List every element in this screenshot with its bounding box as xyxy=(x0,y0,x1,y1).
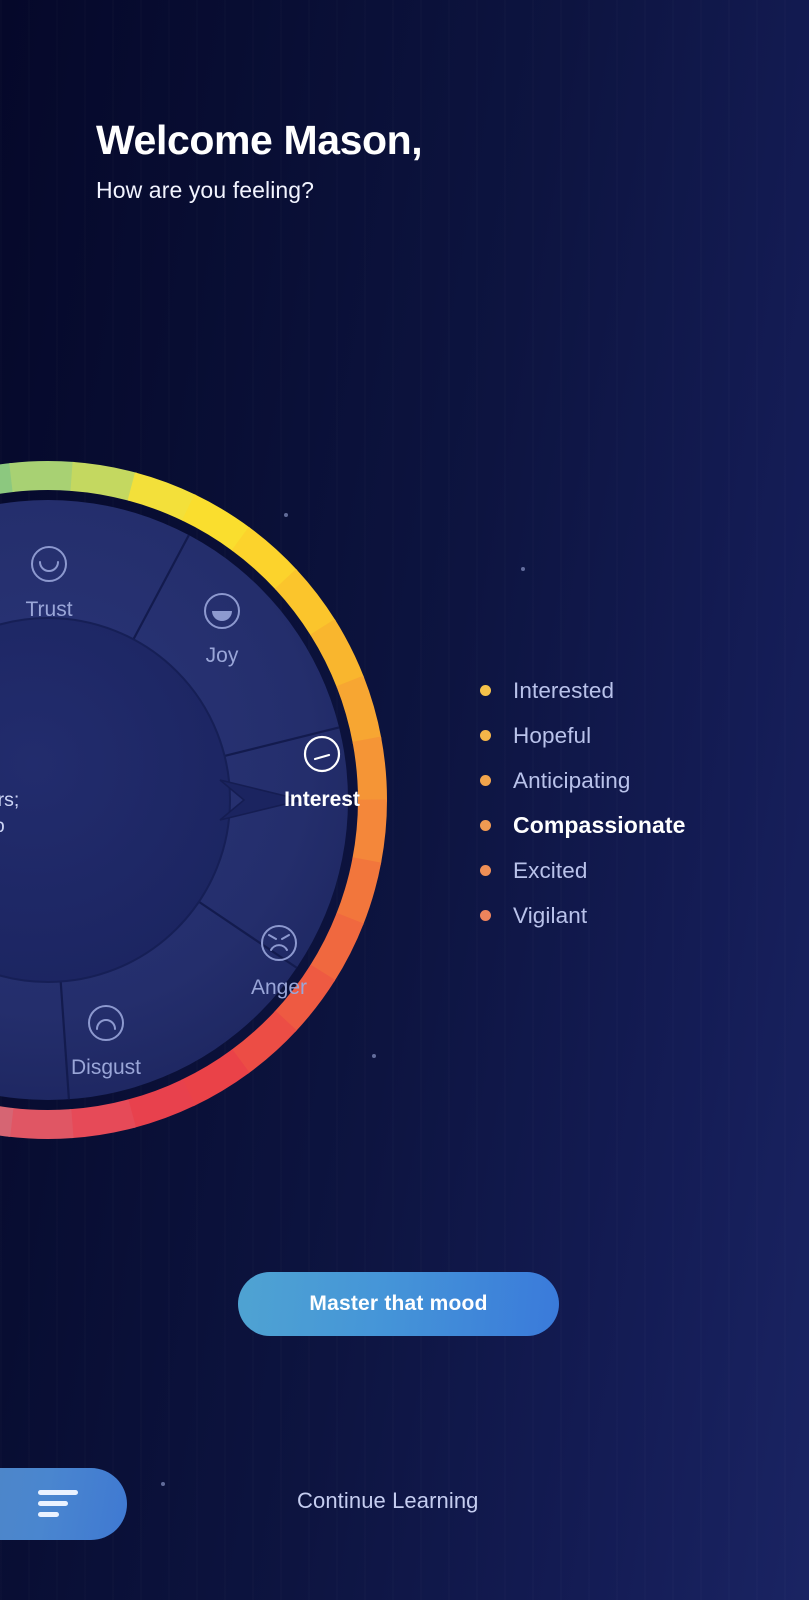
app-screen: Welcome Mason, How are you feeling? xyxy=(0,0,809,1600)
emotion-list[interactable]: InterestedHopefulAnticipatingCompassiona… xyxy=(480,668,686,938)
emotion-bullet-dot xyxy=(480,865,491,876)
ring-segment[interactable] xyxy=(69,1099,136,1138)
emotion-bullet-dot xyxy=(480,820,491,831)
ring-segment[interactable] xyxy=(336,676,381,744)
wheel-segment-label: Disgust xyxy=(71,1056,141,1079)
emotion-label: Vigilant xyxy=(513,903,587,929)
emotion-label: Interested xyxy=(513,678,614,704)
star-dot xyxy=(521,567,525,571)
emotion-list-item[interactable]: Interested xyxy=(480,668,686,713)
emotion-bullet-dot xyxy=(480,730,491,741)
emotion-label: Compassionate xyxy=(513,812,686,839)
wheel-segment-label: Interest xyxy=(284,788,360,811)
ring-segment[interactable] xyxy=(336,857,381,925)
wheel-segment-label: Trust xyxy=(25,598,72,621)
emotion-list-item[interactable]: Excited xyxy=(480,848,686,893)
ring-segment[interactable] xyxy=(9,461,74,492)
emotion-label: Hopeful xyxy=(513,723,591,749)
tooltip-line-2: concern for others; xyxy=(0,789,19,811)
emotion-label: Anticipating xyxy=(513,768,631,794)
page-subtitle: How are you feeling? xyxy=(96,177,422,204)
ring-segment[interactable] xyxy=(8,1108,73,1139)
emotion-wheel[interactable]: Empathy and concern for others; a desire… xyxy=(0,440,408,1160)
star-dot xyxy=(161,1482,165,1486)
emotion-bullet-dot xyxy=(480,910,491,921)
wheel-segment-label: Joy xyxy=(206,644,239,667)
emotion-list-item[interactable]: Anticipating xyxy=(480,758,686,803)
page-header: Welcome Mason, How are you feeling? xyxy=(96,118,422,204)
emotion-list-item[interactable]: Compassionate xyxy=(480,803,686,848)
page-title: Welcome Mason, xyxy=(96,118,422,163)
hamburger-menu-icon xyxy=(38,1490,78,1523)
wheel-segment-label: Anger xyxy=(251,976,307,999)
emotion-bullet-dot xyxy=(480,775,491,786)
menu-button[interactable] xyxy=(0,1468,127,1540)
emotion-label: Excited xyxy=(513,858,587,884)
emotion-list-item[interactable]: Vigilant xyxy=(480,893,686,938)
emotion-list-item[interactable]: Hopeful xyxy=(480,713,686,758)
ring-segment[interactable] xyxy=(70,462,137,501)
emotion-bullet-dot xyxy=(480,685,491,696)
master-that-mood-button[interactable]: Master that mood xyxy=(238,1272,559,1336)
tooltip-line-3: a desire to help xyxy=(0,815,5,837)
continue-learning-button[interactable]: Continue Learning xyxy=(297,1488,479,1514)
emotion-wheel-svg[interactable]: Empathy and concern for others; a desire… xyxy=(0,440,408,1160)
